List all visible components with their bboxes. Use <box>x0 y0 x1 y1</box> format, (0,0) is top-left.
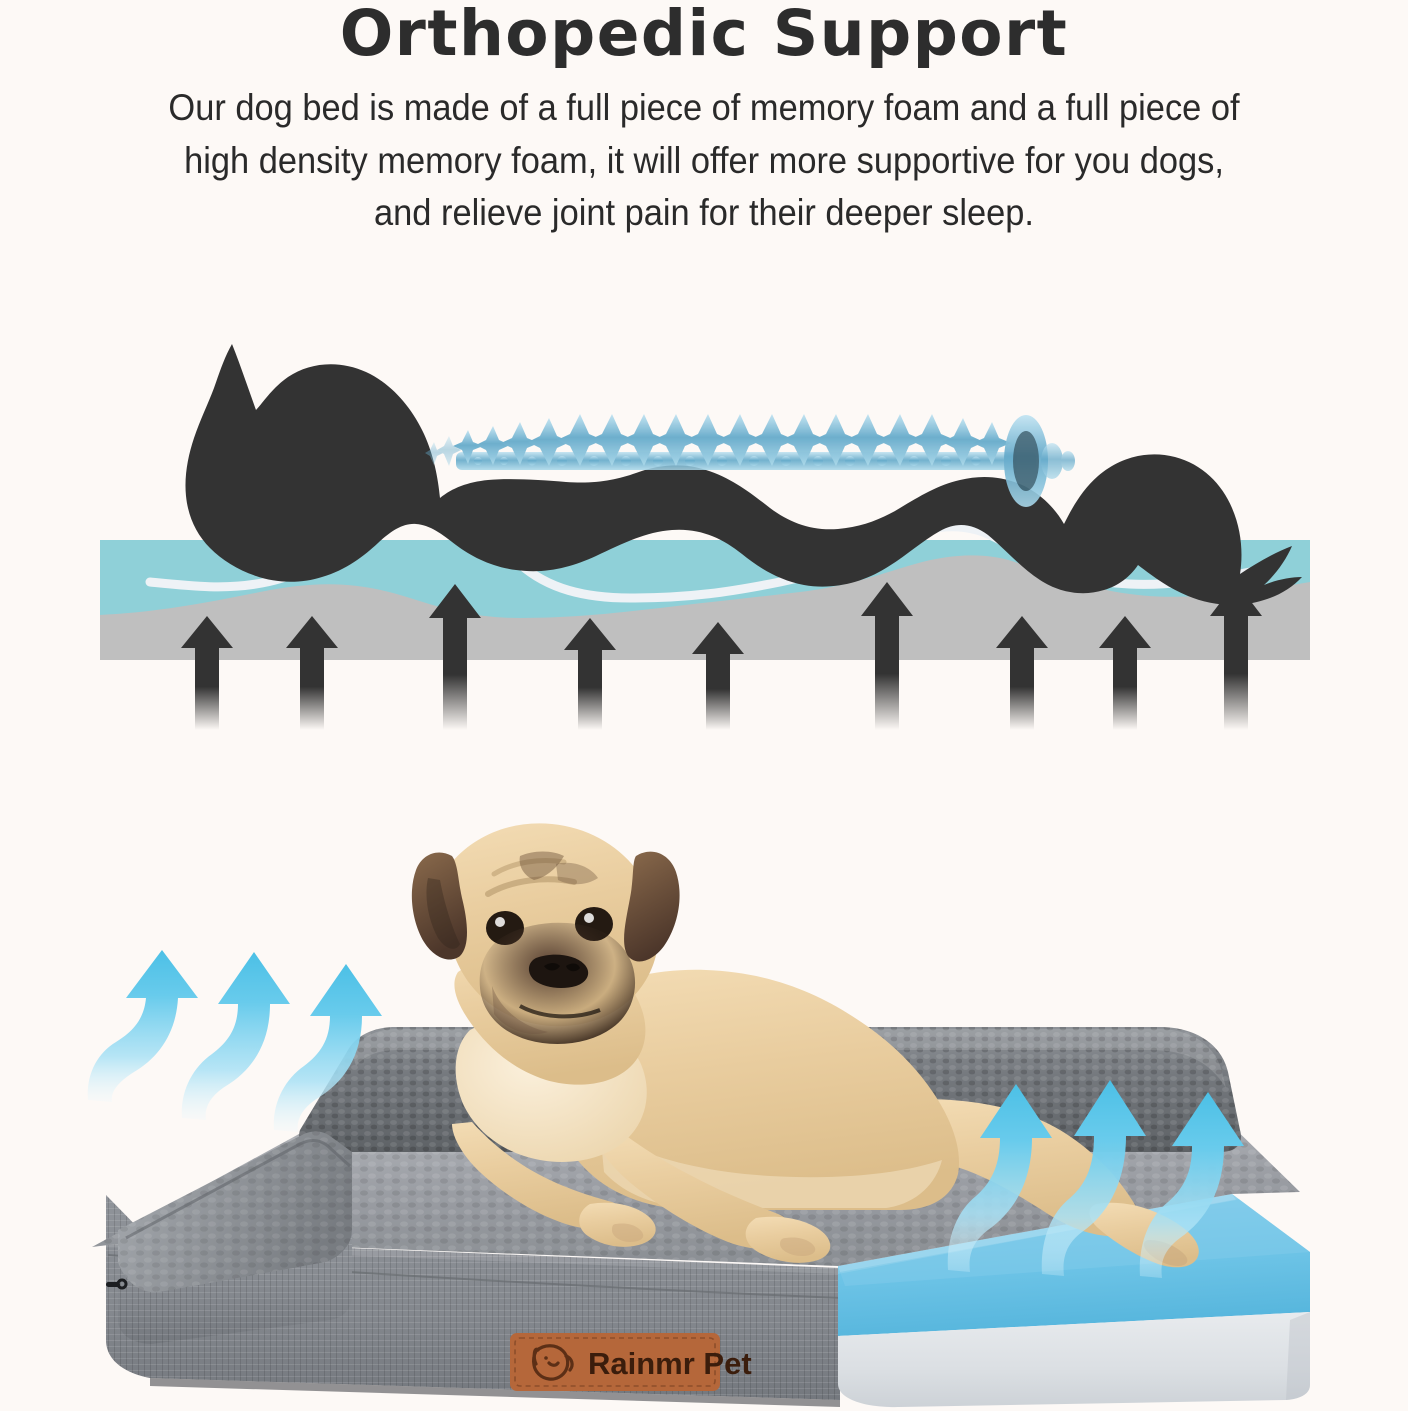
airflow-arrow <box>88 950 198 1102</box>
header-section: Orthopedic Support Our dog bed is made o… <box>0 0 1408 290</box>
page-title: Orthopedic Support <box>0 0 1408 66</box>
bed-left-bolster <box>106 1132 352 1345</box>
page-subtitle: Our dog bed is made of a full piece of m… <box>49 66 1358 240</box>
subtitle-line-2: high density memory foam, it will offer … <box>49 135 1358 188</box>
subtitle-line-1: Our dog bed is made of a full piece of m… <box>49 82 1358 135</box>
airflow-arrow <box>182 952 290 1120</box>
subtitle-line-3: and relieve joint pain for their deeper … <box>49 187 1358 240</box>
orthopedic-support-diagram <box>0 330 1408 730</box>
brand-name: Rainmr Pet <box>588 1346 752 1381</box>
brand-patch: Rainmr Pet <box>510 1333 752 1391</box>
product-photo-section: Rainmr Pet <box>0 800 1408 1411</box>
